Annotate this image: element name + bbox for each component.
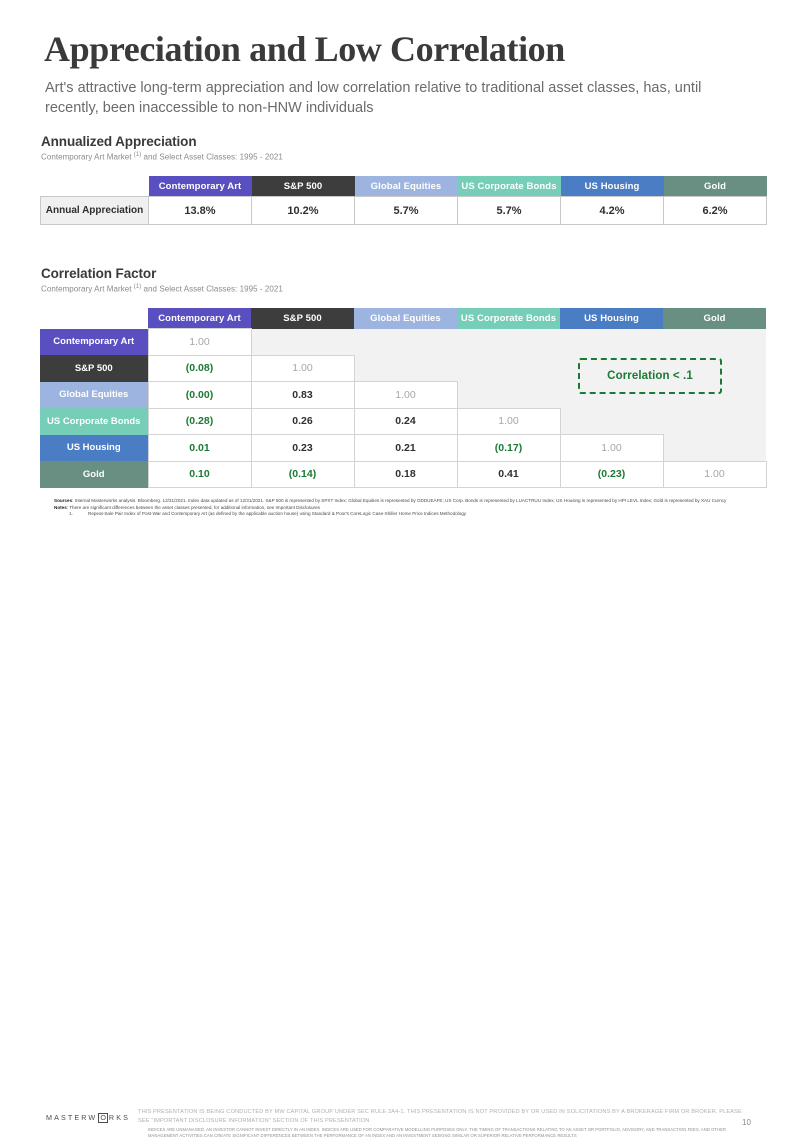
footnote-sources: Sources: Internal Masterworks analysis. …: [54, 498, 754, 505]
appreciation-subtitle-pre: Contemporary Art Market: [41, 153, 134, 162]
correlation-header-global-equities: Global Equities: [354, 308, 457, 329]
correlation-row-us-housing: US Housing0.010.230.21(0.17)1.00: [40, 435, 766, 462]
correlation-cell-us-corporate-bonds-us-corporate-bonds: 1.00: [457, 408, 560, 435]
correlation-row-label-gold: Gold: [40, 461, 148, 488]
low-correlation-callout-label: Correlation < .1: [607, 370, 693, 382]
correlation-row-label-contemporary-art: Contemporary Art: [40, 329, 148, 356]
logo-text-post: RKS: [109, 1113, 130, 1122]
disclaimer-primary: THIS PRESENTATION IS BEING CONDUCTED BY …: [138, 1108, 748, 1125]
footnote-notes-text: : There are significant differences betw…: [67, 505, 320, 510]
correlation-cell-global-equities-global-equities: 1.00: [354, 382, 457, 409]
correlation-row-label-sp500: S&P 500: [40, 355, 148, 382]
appreciation-header-us-housing: US Housing: [561, 176, 664, 197]
slide-root: Appreciation and Low Correlation Art's a…: [0, 0, 800, 600]
footnote-notes-label: Notes: [54, 505, 67, 510]
appreciation-value-sp500: 10.2%: [252, 197, 355, 225]
correlation-empty-cell: [354, 329, 457, 356]
correlation-table-body: Contemporary Art1.00S&P 500(0.08)1.00Glo…: [40, 329, 766, 488]
footnote-notes: Notes: There are significant differences…: [54, 505, 754, 512]
footnote-item-1: 1. Repeat-Sale Pair Index of Post-War an…: [88, 511, 754, 518]
logo-boxed-o: O: [98, 1113, 108, 1123]
correlation-cell-global-equities-sp500: 0.83: [251, 382, 354, 409]
correlation-header-contemporary-art: Contemporary Art: [148, 308, 251, 329]
appreciation-section-subtitle: Contemporary Art Market (1) and Select A…: [41, 152, 283, 162]
correlation-row-label-us-corporate-bonds: US Corporate Bonds: [40, 408, 148, 435]
correlation-cell-gold-sp500: (0.14): [251, 461, 354, 488]
appreciation-header-gold: Gold: [664, 176, 767, 197]
correlation-cell-us-housing-us-housing: 1.00: [560, 435, 663, 462]
correlation-empty-cell: [663, 408, 766, 435]
correlation-cell-us-corporate-bonds-contemporary-art: (0.28): [148, 408, 251, 435]
page-title: Appreciation and Low Correlation: [44, 30, 565, 68]
appreciation-value-us-corporate-bonds: 5.7%: [458, 197, 561, 225]
appreciation-header-spacer: [41, 176, 149, 197]
footnote-sources-text: : Internal Masterworks analysis. Bloombe…: [72, 498, 726, 503]
correlation-empty-cell: [354, 355, 457, 382]
correlation-cell-sp500-contemporary-art: (0.08): [148, 355, 251, 382]
page-number: 10: [742, 1118, 751, 1127]
appreciation-header-sp500: S&P 500: [252, 176, 355, 197]
appreciation-header-us-corporate-bonds: US Corporate Bonds: [458, 176, 561, 197]
correlation-empty-cell: [457, 355, 560, 382]
appreciation-row-label: Annual Appreciation: [41, 197, 149, 225]
correlation-cell-gold-gold: 1.00: [663, 461, 766, 488]
correlation-empty-cell: [560, 408, 663, 435]
correlation-row-label-global-equities: Global Equities: [40, 382, 148, 409]
annualized-appreciation-table: Contemporary Art S&P 500 Global Equities…: [40, 176, 767, 225]
appreciation-value-us-housing: 4.2%: [561, 197, 664, 225]
correlation-cell-gold-us-corporate-bonds: 0.41: [457, 461, 560, 488]
correlation-empty-cell: [663, 435, 766, 462]
correlation-row-label-us-housing: US Housing: [40, 435, 148, 462]
correlation-cell-us-corporate-bonds-global-equities: 0.24: [354, 408, 457, 435]
correlation-section-header: Correlation Factor Contemporary Art Mark…: [41, 266, 283, 294]
appreciation-section-header: Annualized Appreciation Contemporary Art…: [41, 134, 283, 162]
appreciation-value-global-equities: 5.7%: [355, 197, 458, 225]
page-subtitle: Art's attractive long-term appreciation …: [45, 78, 735, 118]
correlation-cell-contemporary-art-contemporary-art: 1.00: [148, 329, 251, 356]
appreciation-header-row: Contemporary Art S&P 500 Global Equities…: [41, 176, 767, 197]
correlation-row-us-corporate-bonds: US Corporate Bonds(0.28)0.260.241.00: [40, 408, 766, 435]
correlation-subtitle-post: and Select Asset Classes: 1995 - 2021: [141, 285, 283, 294]
footnote-sources-label: Sources: [54, 498, 72, 503]
correlation-header-us-housing: US Housing: [560, 308, 663, 329]
appreciation-value-contemporary-art: 13.8%: [149, 197, 252, 225]
appreciation-data-row: Annual Appreciation 13.8% 10.2% 5.7% 5.7…: [41, 197, 767, 225]
correlation-cell-us-housing-sp500: 0.23: [251, 435, 354, 462]
footnote-item-1-text: Repeat-Sale Pair Index of Post-War and C…: [88, 511, 466, 516]
correlation-empty-cell: [457, 329, 560, 356]
appreciation-header-contemporary-art: Contemporary Art: [149, 176, 252, 197]
footnote-numbered-list: 1. Repeat-Sale Pair Index of Post-War an…: [54, 511, 754, 518]
appreciation-section-title: Annualized Appreciation: [41, 134, 283, 149]
correlation-cell-us-housing-contemporary-art: 0.01: [148, 435, 251, 462]
appreciation-subtitle-post: and Select Asset Classes: 1995 - 2021: [141, 153, 283, 162]
correlation-cell-gold-global-equities: 0.18: [354, 461, 457, 488]
disclaimer-secondary: INDICES ARE UNMANAGED. AN INVESTOR CANNO…: [148, 1127, 748, 1139]
correlation-header-us-corporate-bonds: US Corporate Bonds: [457, 308, 560, 329]
correlation-cell-us-housing-global-equities: 0.21: [354, 435, 457, 462]
correlation-header-sp500: S&P 500: [251, 308, 354, 329]
correlation-row-gold: Gold0.10(0.14)0.180.41(0.23)1.00: [40, 461, 766, 488]
correlation-header-row: Contemporary Art S&P 500 Global Equities…: [40, 308, 766, 329]
correlation-empty-cell: [663, 329, 766, 356]
masterworks-logo: MASTERWORKS: [46, 1113, 130, 1123]
correlation-cell-gold-contemporary-art: 0.10: [148, 461, 251, 488]
correlation-cell-us-corporate-bonds-sp500: 0.26: [251, 408, 354, 435]
appreciation-value-gold: 6.2%: [664, 197, 767, 225]
correlation-factor-table: Contemporary Art S&P 500 Global Equities…: [40, 308, 767, 488]
correlation-cell-us-housing-us-corporate-bonds: (0.17): [457, 435, 560, 462]
appreciation-header-global-equities: Global Equities: [355, 176, 458, 197]
correlation-cell-gold-us-housing: (0.23): [560, 461, 663, 488]
correlation-header-spacer: [40, 308, 148, 329]
correlation-row-contemporary-art: Contemporary Art1.00: [40, 329, 766, 356]
correlation-empty-cell: [560, 329, 663, 356]
correlation-cell-global-equities-contemporary-art: (0.00): [148, 382, 251, 409]
correlation-section-title: Correlation Factor: [41, 266, 283, 281]
logo-text-pre: MASTERW: [46, 1113, 97, 1122]
correlation-section-subtitle: Contemporary Art Market (1) and Select A…: [41, 284, 283, 294]
footnote-item-1-number: 1.: [69, 511, 73, 518]
correlation-header-gold: Gold: [663, 308, 766, 329]
correlation-empty-cell: [251, 329, 354, 356]
low-correlation-callout: Correlation < .1: [578, 358, 722, 394]
footnotes-block: Sources: Internal Masterworks analysis. …: [54, 498, 754, 518]
correlation-cell-sp500-sp500: 1.00: [251, 355, 354, 382]
footer-bar: MASTERWORKS THIS PRESENTATION IS BEING C…: [0, 552, 800, 600]
correlation-empty-cell: [457, 382, 560, 409]
correlation-subtitle-pre: Contemporary Art Market: [41, 285, 134, 294]
